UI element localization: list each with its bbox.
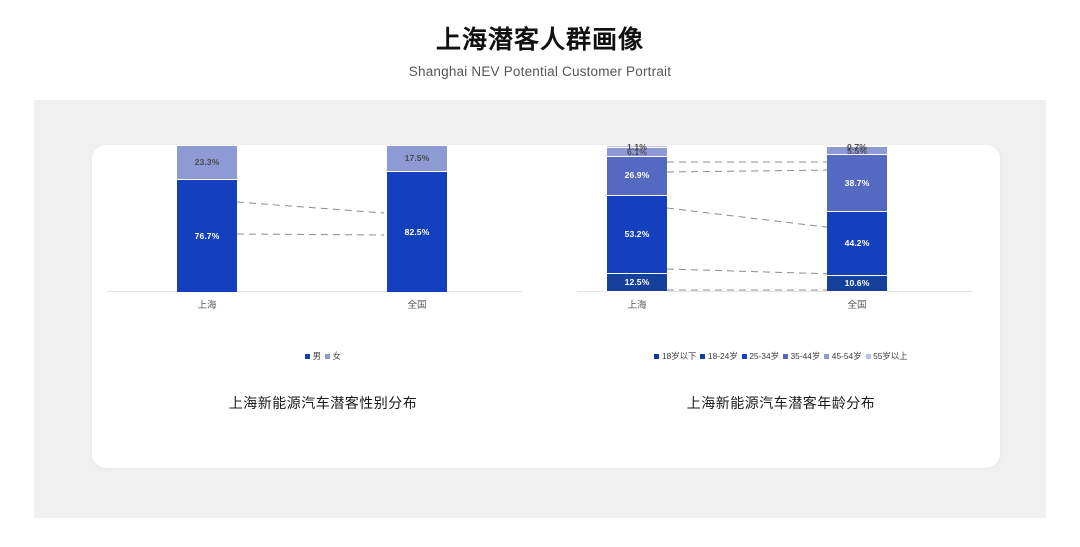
chart-gender-caption: 上海新能源汽车潜客性别分布: [92, 393, 554, 413]
bar-gender-shanghai[interactable]: 76.7%23.3%: [177, 145, 237, 292]
segment-label: 12.5%: [625, 278, 650, 287]
cat-label-age-0: 上海: [607, 297, 667, 311]
legend-label: 35-44岁: [791, 350, 821, 362]
segment-age-0-1[interactable]: 12.5%: [607, 273, 667, 291]
segment-label: 10.6%: [845, 279, 870, 288]
charts-card: 76.7%23.3% 82.5%17.5% 上海 全国 男女 上海新能源汽车潜客…: [92, 145, 1000, 468]
segment-gender-1-1[interactable]: 17.5%: [387, 145, 447, 171]
legend-swatch-icon: [305, 354, 310, 359]
legend-label: 18-24岁: [708, 350, 738, 362]
legend-swatch-icon: [700, 354, 705, 359]
segment-age-0-2[interactable]: 53.2%: [607, 195, 667, 273]
legend-swatch-icon: [824, 354, 829, 359]
cat-label-age-1: 全国: [827, 297, 887, 311]
segment-age-0-5[interactable]: 1.1%: [607, 145, 667, 147]
chart-gender-legend: 男女: [92, 350, 554, 362]
legend-item-age-1[interactable]: 18-24岁: [700, 350, 737, 362]
legend-swatch-icon: [742, 354, 747, 359]
legend-swatch-icon: [325, 354, 330, 359]
chart-gender-axis: [107, 291, 522, 292]
legend-swatch-icon: [783, 354, 788, 359]
segment-gender-1-0[interactable]: 82.5%: [387, 171, 447, 292]
legend-label: 女: [333, 350, 341, 362]
segment-label: 23.3%: [195, 158, 220, 167]
legend-label: 55岁以上: [873, 350, 907, 362]
legend-label: 25-34岁: [749, 350, 779, 362]
cat-label-gender-1: 全国: [387, 297, 447, 311]
legend-item-gender-1[interactable]: 女: [325, 350, 341, 362]
segment-label: 1.1%: [627, 143, 647, 152]
segment-label: 53.2%: [625, 230, 650, 239]
segment-label: 76.7%: [195, 232, 220, 241]
legend-swatch-icon: [866, 354, 871, 359]
legend-item-age-0[interactable]: 18岁以下: [654, 350, 696, 362]
segment-age-1-3[interactable]: 38.7%: [827, 154, 887, 211]
chart-age-caption: 上海新能源汽车潜客年龄分布: [562, 393, 1000, 413]
bar-age-shanghai[interactable]: 0.2%12.5%53.2%26.9%6.1%1.1%: [607, 145, 667, 292]
segment-age-0-3[interactable]: 26.9%: [607, 156, 667, 195]
chart-age-plot: 0.2%12.5%53.2%26.9%6.1%1.1% 0.2%10.6%44.…: [562, 145, 1000, 335]
legend-label: 18岁以下: [662, 350, 696, 362]
chart-gender-plot: 76.7%23.3% 82.5%17.5% 上海 全国: [92, 145, 554, 335]
page-header: 上海潜客人群画像 Shanghai NEV Potential Customer…: [0, 0, 1080, 79]
page-title: 上海潜客人群画像: [0, 0, 1080, 55]
chart-age-legend: 18岁以下18-24岁25-34岁35-44岁45-54岁55岁以上: [562, 350, 1000, 362]
segment-age-0-0[interactable]: 0.2%: [607, 291, 667, 292]
segment-label: 82.5%: [405, 228, 430, 237]
legend-item-age-5[interactable]: 55岁以上: [866, 350, 908, 362]
cat-label-gender-0: 上海: [177, 297, 237, 311]
segment-age-1-0[interactable]: 0.2%: [827, 291, 887, 292]
legend-item-age-4[interactable]: 45-54岁: [824, 350, 861, 362]
segment-age-1-2[interactable]: 44.2%: [827, 211, 887, 276]
chart-gender-connectors: [92, 145, 554, 335]
legend-label: 男: [313, 350, 321, 362]
chart-gender: 76.7%23.3% 82.5%17.5% 上海 全国 男女 上海新能源汽车潜客…: [92, 145, 554, 468]
segment-gender-0-1[interactable]: 23.3%: [177, 145, 237, 179]
segment-label: 38.7%: [845, 179, 870, 188]
segment-age-1-1[interactable]: 10.6%: [827, 275, 887, 291]
bar-age-national[interactable]: 0.2%10.6%44.2%38.7%5.5%0.7%: [827, 145, 887, 292]
legend-item-age-3[interactable]: 35-44岁: [783, 350, 820, 362]
segment-label: 26.9%: [625, 171, 650, 180]
page-subtitle: Shanghai NEV Potential Customer Portrait: [0, 55, 1080, 79]
chart-age: 0.2%12.5%53.2%26.9%6.1%1.1% 0.2%10.6%44.…: [562, 145, 1000, 468]
segment-gender-0-0[interactable]: 76.7%: [177, 179, 237, 292]
segment-label: 44.2%: [845, 239, 870, 248]
legend-label: 45-54岁: [832, 350, 862, 362]
segment-label: 17.5%: [405, 154, 430, 163]
segment-age-1-5[interactable]: 0.7%: [827, 145, 887, 146]
legend-item-age-2[interactable]: 25-34岁: [742, 350, 779, 362]
bar-gender-national[interactable]: 82.5%17.5%: [387, 145, 447, 292]
legend-item-gender-0[interactable]: 男: [305, 350, 321, 362]
segment-label: 0.7%: [847, 143, 867, 152]
legend-swatch-icon: [654, 354, 659, 359]
